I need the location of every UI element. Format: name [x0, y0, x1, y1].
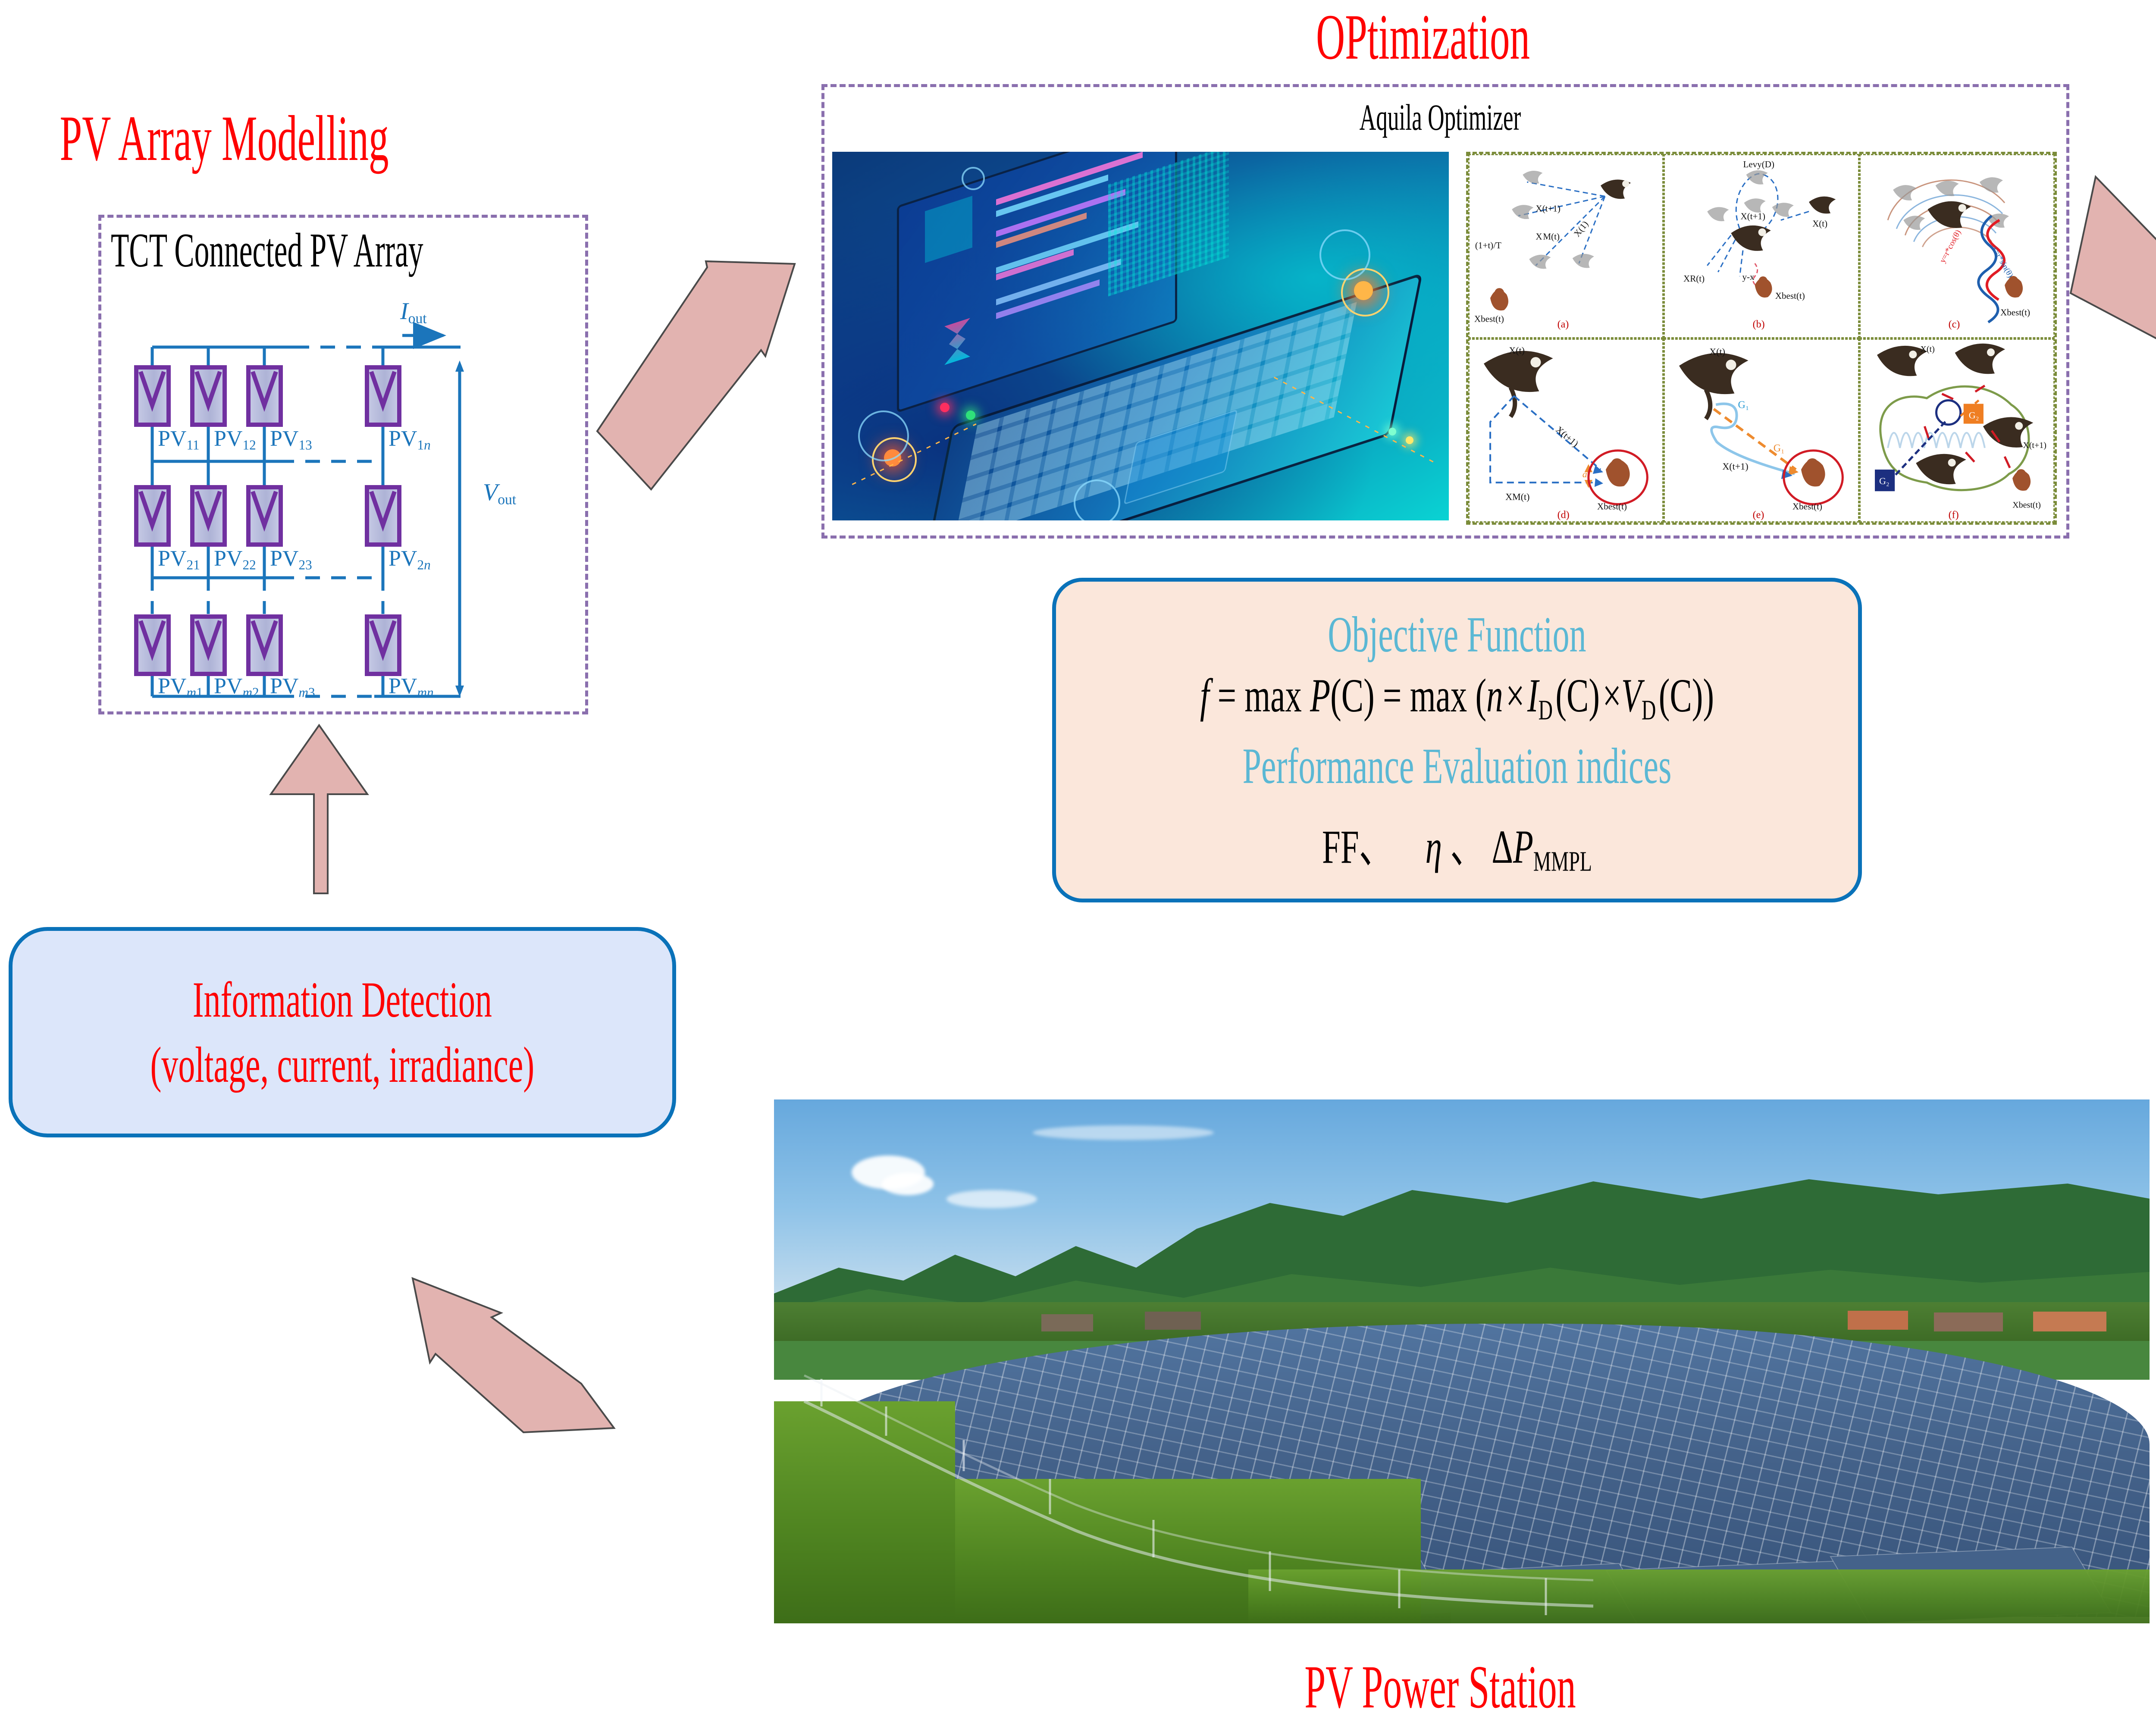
svg-text:(e): (e): [1753, 509, 1764, 520]
svg-text:Xbest(t): Xbest(t): [2012, 500, 2041, 510]
svg-text:(b): (b): [1753, 319, 1765, 330]
arrow-station-to-detection: [413, 1278, 614, 1432]
svg-text:a: a: [1583, 469, 1587, 479]
svg-text:Xbest(t): Xbest(t): [1474, 313, 1504, 324]
svg-text:X(t+1): X(t+1): [1723, 461, 1749, 472]
information-detection-line1: Information Detection: [193, 971, 492, 1028]
svg-text:G₁: G₁: [1738, 399, 1749, 410]
objective-function-equation: f = max P(C) = max (n × ID (C) ×VD (C)): [1176, 668, 1738, 727]
svg-text:X(t+1): X(t+1): [2023, 440, 2046, 450]
aquila-subpanel-f: X(t) G₂ G₂ X(t+1) Xbest(t) (f): [1859, 338, 2055, 523]
aquila-subpanel-d: X(t) X(t+1) XM(t) a Xbest(t) (d): [1468, 338, 1664, 523]
svg-text:X(t): X(t): [1812, 219, 1827, 229]
arrow-model-to-optimization: [597, 261, 795, 489]
iout-label: Iout: [400, 298, 427, 327]
aquila-subpanel-c: x=r*sin(θ) y=r*cos(θ) Xbest(t) (c): [1859, 154, 2055, 338]
svg-text:G₂: G₂: [1879, 476, 1890, 486]
svg-text:X(t): X(t): [1509, 345, 1525, 356]
svg-text:(f): (f): [1948, 509, 1959, 520]
pv-power-station-caption: PV Power Station: [1253, 1651, 1627, 1722]
svg-text:(a): (a): [1557, 319, 1569, 330]
svg-text:X M(t): X M(t): [1536, 232, 1560, 242]
aquila-subpanel-a: X(t+1) X M(t) X(1) (1+t)/T Xbest(t) (a): [1468, 154, 1664, 338]
svg-text:X(t): X(t): [1710, 346, 1726, 357]
performance-indices-title: Performance Evaluation indices: [1192, 737, 1722, 796]
svg-text:y=r*cos(θ): y=r*cos(θ): [1938, 229, 1963, 264]
svg-text:X(t+1): X(t+1): [1741, 211, 1766, 222]
arrow-detection-to-model: [271, 725, 367, 893]
information-detection-box[interactable]: Information Detection (voltage, current,…: [9, 927, 676, 1137]
arrow-optimization-to-output: [2071, 177, 2156, 357]
svg-text:G₂: G₂: [1968, 410, 1979, 420]
svg-text:X(t+1): X(t+1): [1536, 203, 1561, 213]
svg-text:XR(t): XR(t): [1683, 273, 1705, 284]
svg-text:X(1): X(1): [1572, 219, 1590, 239]
objective-function-box: Objective Function f = max P(C) = max (n…: [1052, 578, 1862, 902]
svg-text:(c): (c): [1948, 319, 1960, 330]
svg-text:X(t+1): X(t+1): [1554, 424, 1580, 449]
tct-panel-title: TCT Connected PV Array: [111, 223, 423, 279]
aquila-subpanel-b: Levy(D) X(t+1) X(t) XR(t) y-x Xbest(t) (…: [1664, 154, 1859, 338]
aquila-panel-title: Aquila Optimizer: [1253, 96, 1627, 139]
svg-text:(1+t)/T: (1+t)/T: [1475, 240, 1501, 251]
perimeter-fence: [774, 1099, 2150, 1623]
pv-array-modelling-heading: PV Array Modelling: [24, 101, 425, 175]
information-detection-line2: (voltage, current, irradiance): [150, 1037, 535, 1093]
information-detection-label: Information Detection (voltage, current,…: [150, 967, 535, 1097]
svg-text:XM(t): XM(t): [1505, 491, 1529, 502]
svg-text:Xbest(t): Xbest(t): [1775, 291, 1805, 301]
svg-text:Xbest(t): Xbest(t): [1792, 501, 1822, 511]
objective-function-title: Objective Function: [1192, 605, 1722, 664]
optimization-computer-image: [832, 152, 1449, 520]
svg-text:y-x: y-x: [1742, 272, 1755, 282]
performance-indices-values: FF、 η 、 ΔPMMPL: [1176, 808, 1738, 878]
svg-text:Xbest(t): Xbest(t): [2000, 307, 2030, 317]
aquila-behaviour-panels: X(t+1) X M(t) X(1) (1+t)/T Xbest(t) (a): [1466, 152, 2057, 525]
pv-power-station-photo: [774, 1099, 2150, 1623]
svg-text:X(t): X(t): [1920, 345, 1934, 354]
svg-text:G₁: G₁: [1774, 442, 1785, 454]
aquila-subpanel-e: X(t) G₁ G₁ X(t+1) Xbest(t) (e): [1664, 338, 1859, 523]
svg-text:(d): (d): [1557, 509, 1570, 520]
optimization-heading: OPtimization: [1236, 0, 1610, 74]
svg-text:Xbest(t): Xbest(t): [1597, 501, 1627, 511]
svg-text:Levy(D): Levy(D): [1743, 159, 1775, 169]
vout-label: Vout: [483, 479, 516, 508]
